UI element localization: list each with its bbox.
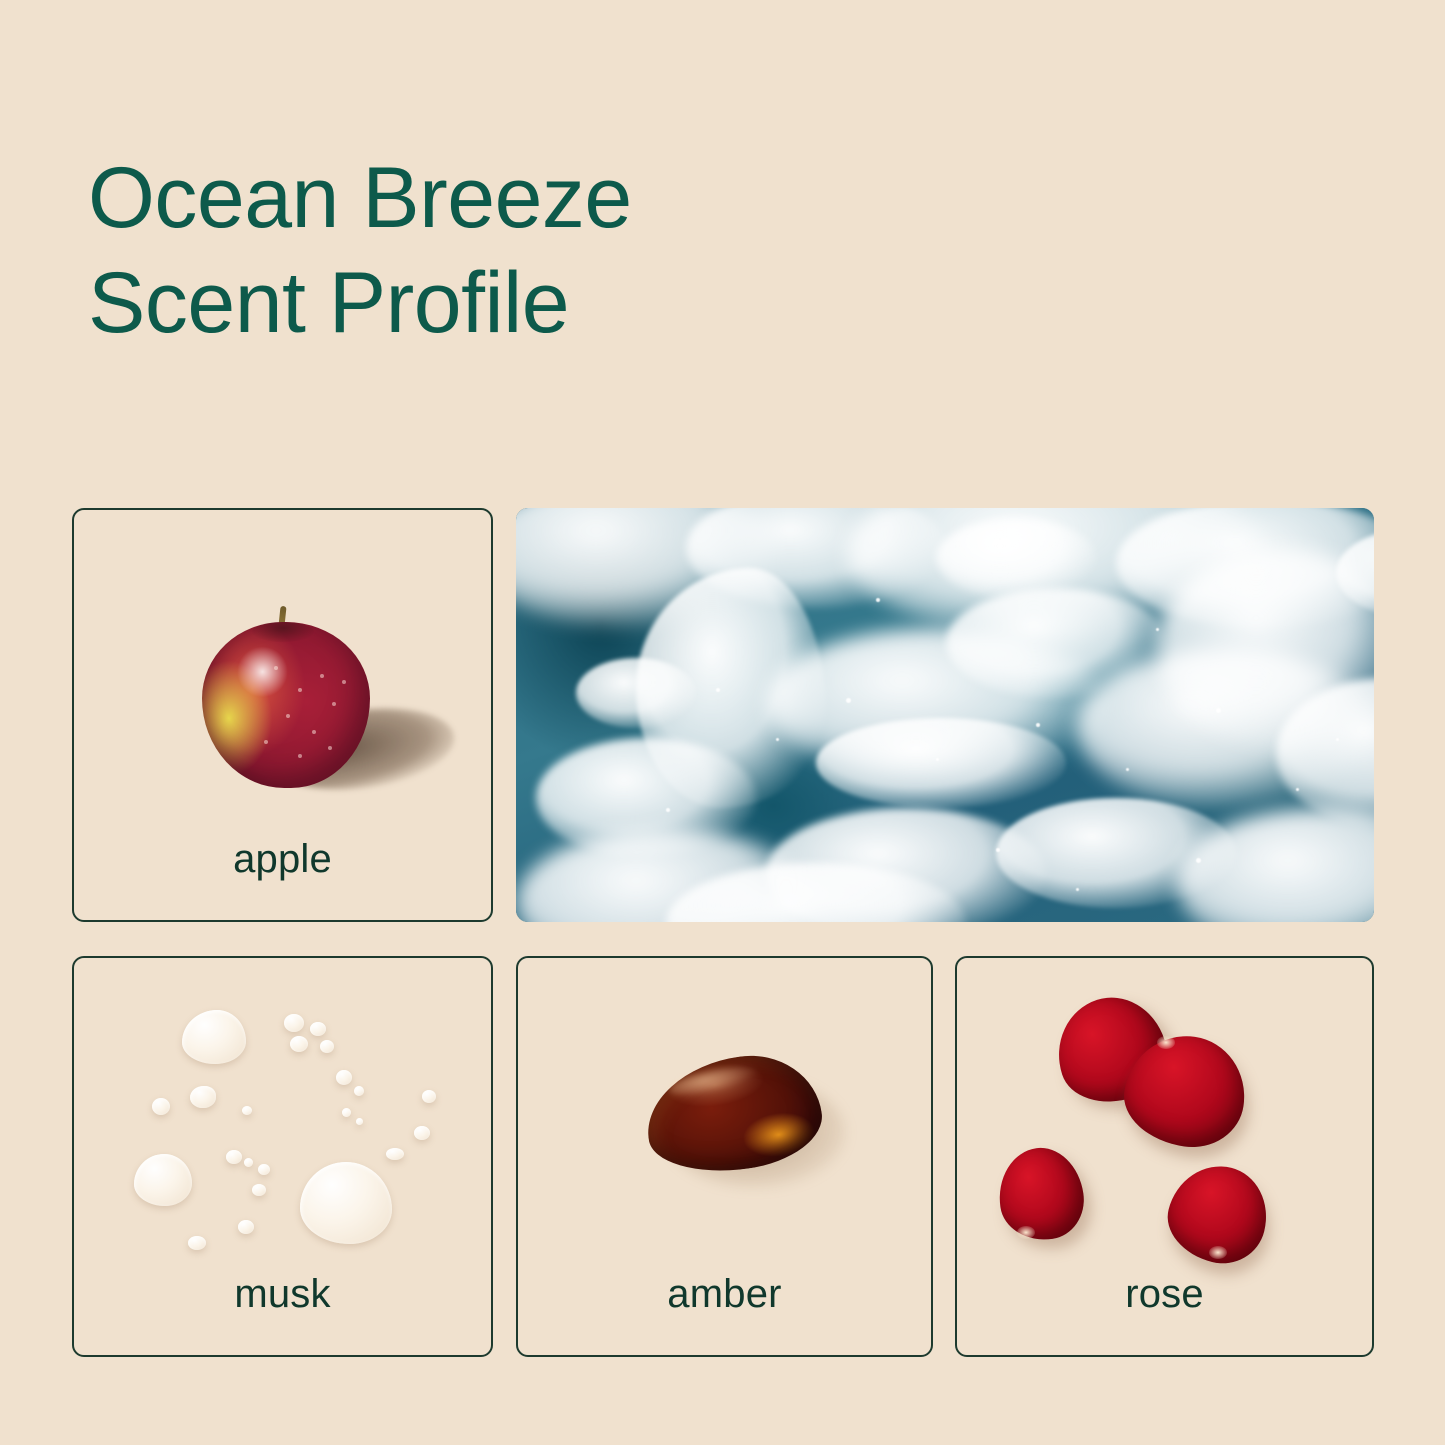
apple-image	[74, 510, 491, 810]
scent-card-label-apple: apple	[74, 837, 491, 882]
scent-card-label-amber: amber	[518, 1272, 931, 1317]
scent-card-label-rose: rose	[957, 1272, 1372, 1317]
musk-droplets-image	[74, 958, 491, 1245]
ocean-wave-image	[516, 508, 1374, 922]
scent-card-musk[interactable]: musk	[72, 956, 493, 1357]
rose-petals-image	[957, 958, 1372, 1245]
apple-stem-well	[252, 622, 314, 642]
apple-body	[202, 622, 370, 788]
scent-card-apple[interactable]: apple	[72, 508, 493, 922]
scent-card-rose[interactable]: rose	[955, 956, 1374, 1357]
amber-stone-image	[518, 958, 931, 1245]
scent-card-label-musk: musk	[74, 1272, 491, 1317]
page-title: Ocean Breeze Scent Profile	[88, 146, 988, 356]
scent-card-amber[interactable]: amber	[516, 956, 933, 1357]
